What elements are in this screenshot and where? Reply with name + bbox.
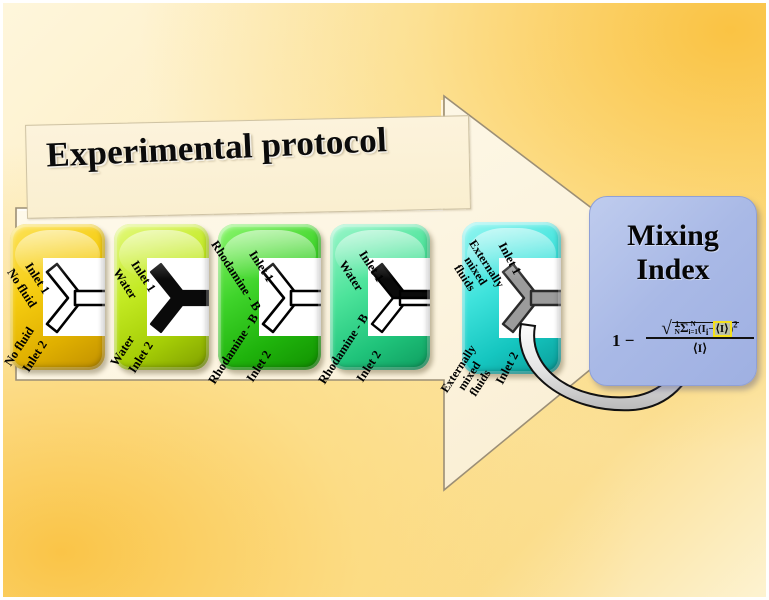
formula-mean-highlight: ⟨I⟩ (715, 323, 730, 335)
y-junction-channel-outline (35, 252, 105, 344)
protocol-card-rhodamine-rhodamine[interactable]: Inlet 1 Rhodamine - B Rhodamine - B Inle… (218, 224, 321, 370)
y-junction-channel-filled (139, 252, 209, 344)
formula-term-open: (I (698, 323, 706, 335)
protocol-card-water-water[interactable]: Inlet 1 Water Water Inlet 2 (114, 224, 209, 370)
formula-minus: − (708, 323, 714, 335)
figure-canvas: Experimental protocol Inlet 1 No fluid N… (0, 0, 769, 600)
formula-sum-limits: Ni=1 (688, 320, 697, 336)
formula-lead-term: 1 − (612, 331, 634, 351)
formula-sigma: Σ (680, 320, 689, 335)
formula-numerator: √ 1NΣNi=1(Ii−⟨I⟩)2 (644, 311, 756, 337)
formula-denominator: ⟨I⟩ (644, 339, 756, 357)
protocol-card-water-rhodamine[interactable]: Inlet 1 Water Rhodamine - B Inlet 2 (330, 224, 430, 370)
mixing-index-title-line2: Index (590, 253, 756, 286)
protocol-card-no-fluid[interactable]: Inlet 1 No fluid No fluid Inlet 2 (10, 224, 105, 370)
formula-fraction: √ 1NΣNi=1(Ii−⟨I⟩)2 ⟨I⟩ (644, 311, 756, 357)
mixing-index-formula: 1 − √ 1NΣNi=1(Ii−⟨I⟩)2 ⟨I⟩ (598, 309, 750, 369)
mixing-index-panel[interactable]: Mixing Index 1 − √ 1NΣNi=1(Ii−⟨I⟩)2 ⟨I⟩ (589, 196, 757, 386)
formula-power: 2 (733, 319, 738, 329)
mixing-index-title-line1: Mixing (590, 219, 756, 252)
